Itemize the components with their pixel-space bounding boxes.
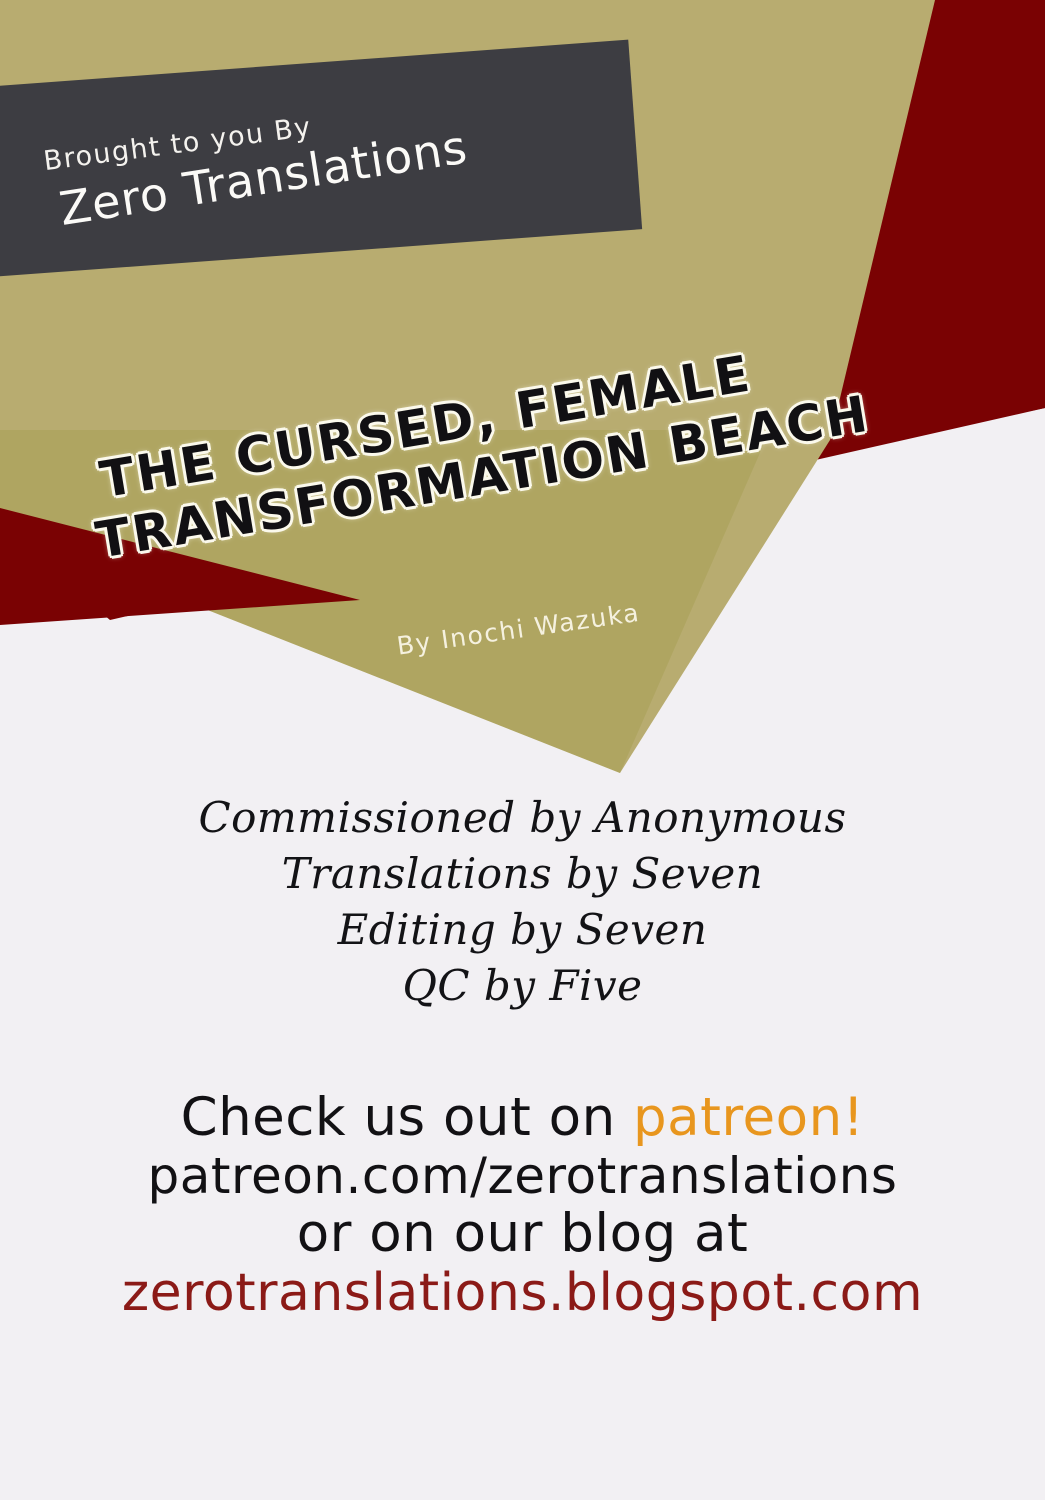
patreon-url-link[interactable]: patreon.com/zerotranslations bbox=[0, 1148, 1045, 1205]
credit-line: Editing by Seven bbox=[0, 902, 1045, 958]
staff-credits: Commissioned by Anonymous Translations b… bbox=[0, 790, 1045, 1013]
promo-blog-prefix: or on our blog at bbox=[0, 1204, 1045, 1264]
credit-line: QC by Five bbox=[0, 958, 1045, 1014]
promo-check-prefix: Check us out on bbox=[181, 1087, 633, 1148]
blog-url-link[interactable]: zerotranslations.blogspot.com bbox=[0, 1264, 1045, 1323]
credits-page: Brought to you By Zero Translations THE … bbox=[0, 0, 1045, 1500]
credit-line: Translations by Seven bbox=[0, 846, 1045, 902]
credit-line: Commissioned by Anonymous bbox=[0, 790, 1045, 846]
promo-block: Check us out on patreon! patreon.com/zer… bbox=[0, 1088, 1045, 1323]
patreon-link[interactable]: patreon! bbox=[633, 1087, 864, 1148]
promo-check-us-out-line: Check us out on patreon! bbox=[0, 1088, 1045, 1148]
